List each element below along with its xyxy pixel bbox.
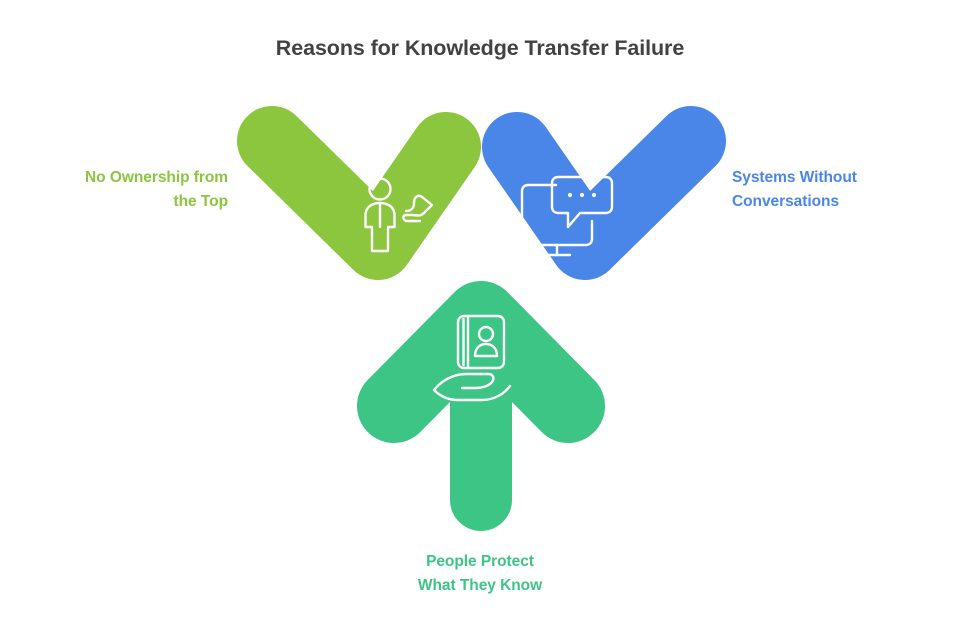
page-title: Reasons for Knowledge Transfer Failure: [0, 34, 960, 62]
label-no-ownership-line1: No Ownership from: [85, 169, 228, 186]
label-systems-line2: Conversations: [732, 193, 839, 210]
arrow-people-protect[interactable]: [374, 278, 589, 530]
arrow-systems-without-conversations[interactable]: [488, 105, 713, 305]
label-no-ownership: No Ownership from the Top: [20, 166, 228, 214]
chevron-blue-shape: [517, 141, 691, 245]
label-systems-without-conversations: Systems Without Conversations: [732, 166, 947, 214]
chevron-green-shape: [272, 141, 446, 245]
arrow-no-ownership[interactable]: [250, 105, 475, 305]
label-people-protect: People Protect What They Know: [360, 550, 600, 598]
label-people-line1: People Protect: [426, 553, 534, 570]
infographic-canvas: Reasons for Knowledge Transfer Failure N…: [0, 0, 960, 626]
label-people-line2: What They Know: [418, 577, 542, 594]
label-no-ownership-line2: the Top: [174, 193, 228, 210]
label-systems-line1: Systems Without: [732, 169, 857, 186]
